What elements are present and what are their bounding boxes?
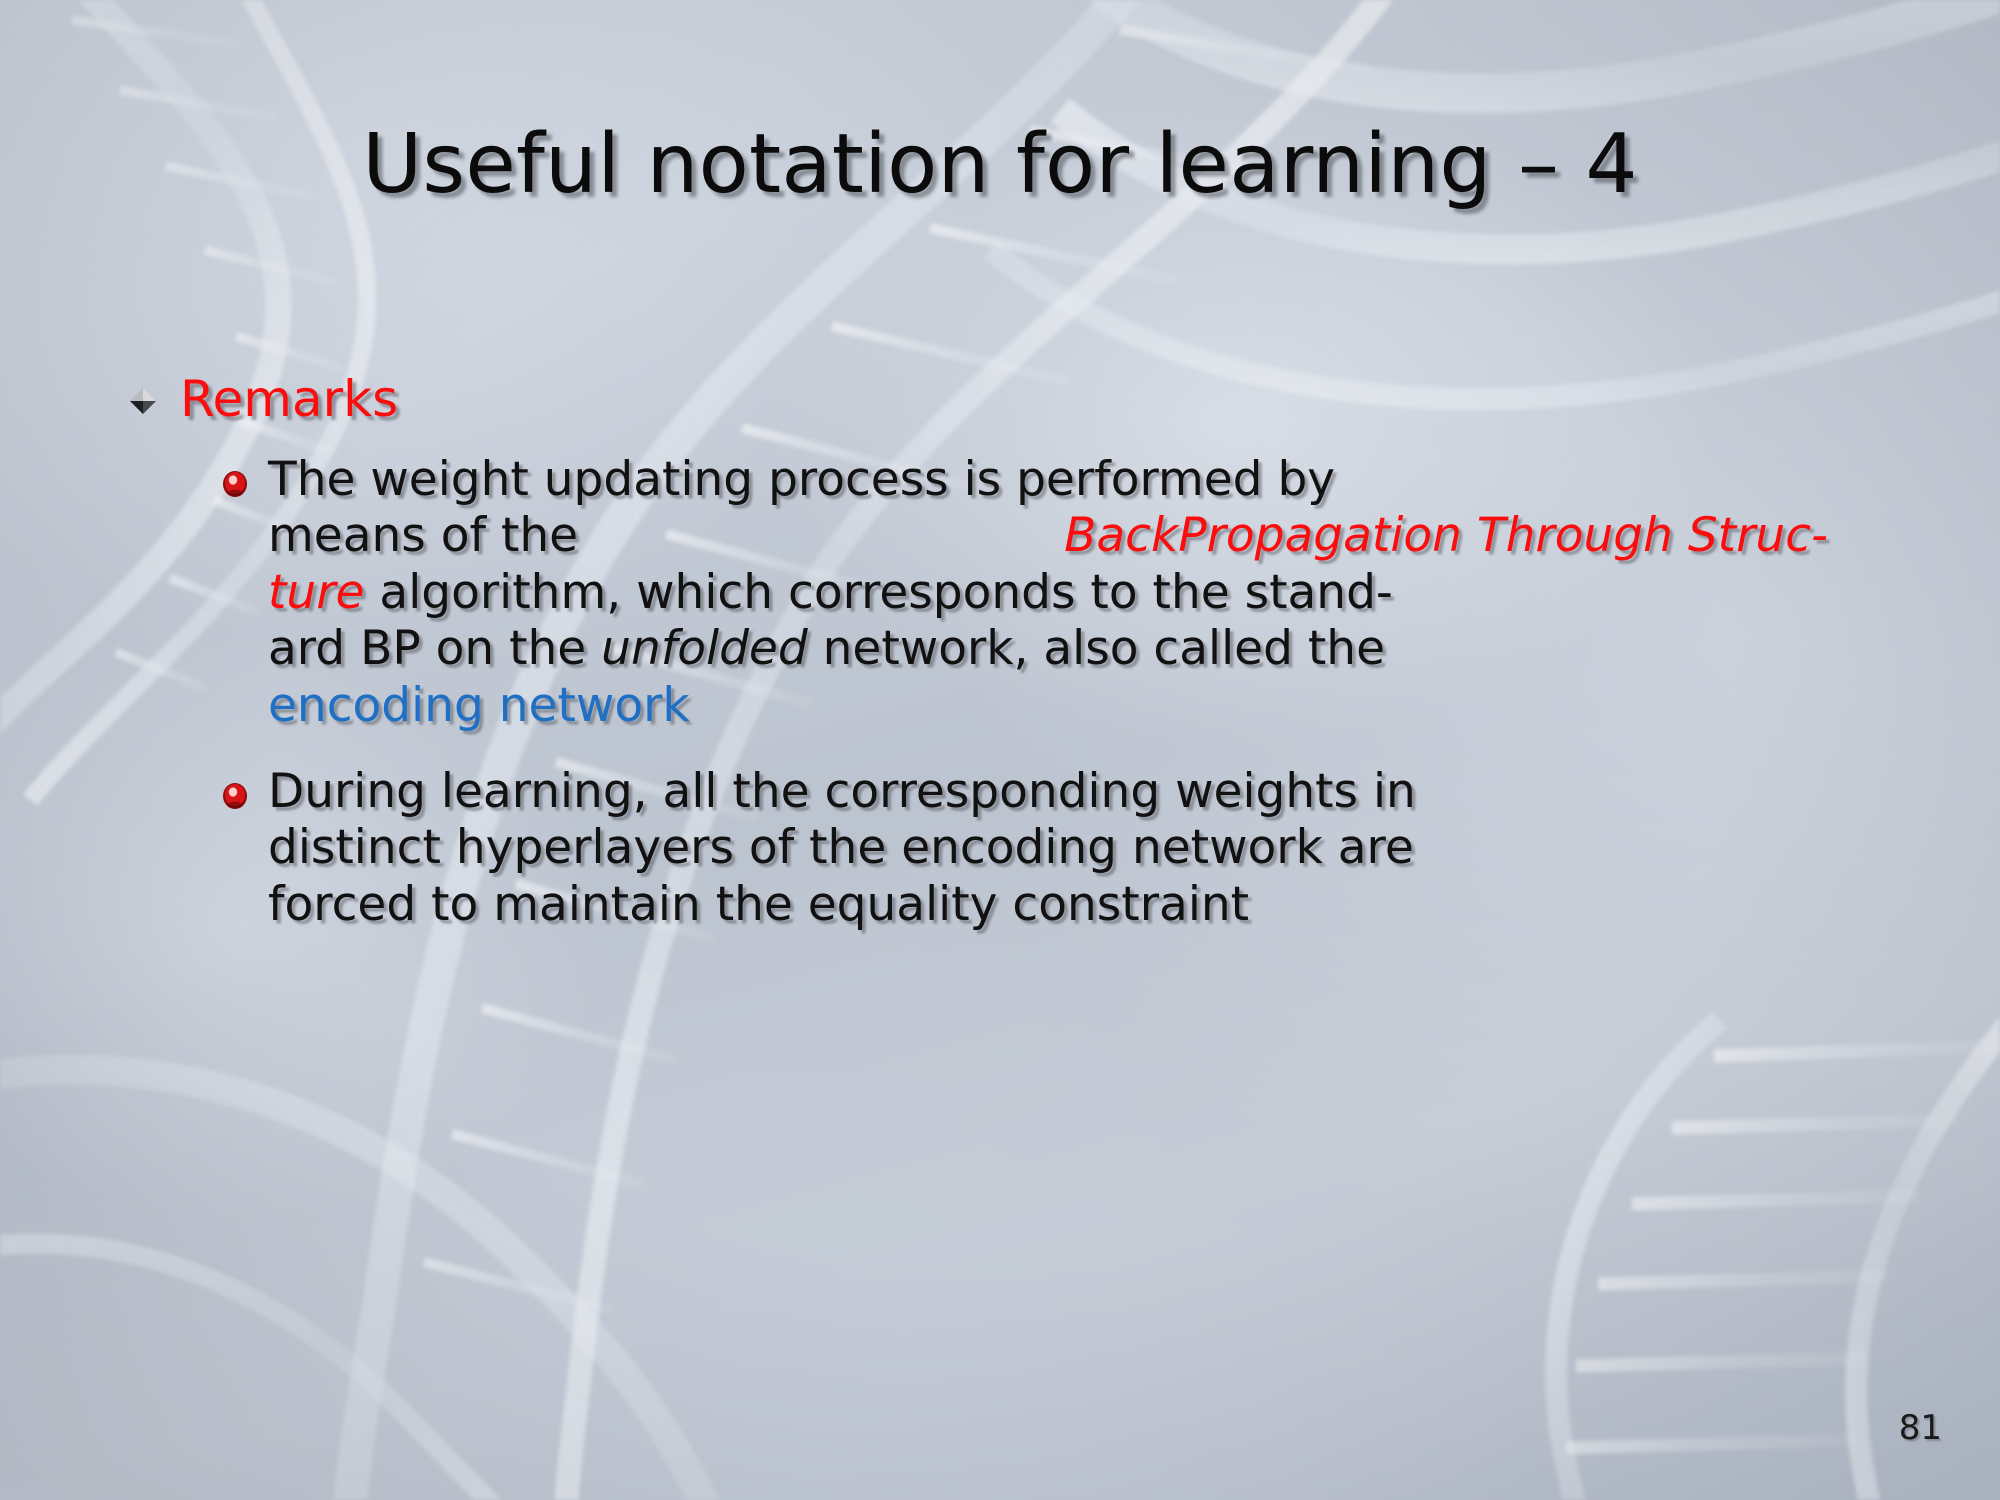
text-line: means of the BackPropagation Through Str… xyxy=(268,508,1828,564)
text-line: ture algorithm, which corresponds to the… xyxy=(268,565,1828,621)
text-run-emphasis-red: ture xyxy=(268,565,364,620)
text-line: forced to maintain the equality constrai… xyxy=(268,877,1828,933)
text-run: network, also called the xyxy=(808,621,1385,676)
text-run: The weight updating process is performed… xyxy=(268,452,1335,508)
outline-item-text: The weight updating process is performed… xyxy=(268,452,1828,734)
text-line: distinct hyperlayers of the encoding net… xyxy=(268,820,1828,876)
outline-heading-row: Remarks xyxy=(128,372,1888,426)
text-line: The weight updating process is performed… xyxy=(268,452,1828,508)
outline-item-text: During learning, all the corresponding w… xyxy=(268,764,1828,933)
outline-item: During learning, all the corresponding w… xyxy=(222,764,1888,933)
slide-content: Useful notation for learning – 4 Remarks xyxy=(0,0,2000,1500)
page-number: 81 xyxy=(1899,1408,1942,1448)
outline-heading-label: Remarks xyxy=(180,372,398,426)
red-sphere-bullet-icon xyxy=(222,470,248,498)
text-line: encoding network xyxy=(268,678,1828,734)
slide-title: Useful notation for learning – 4 xyxy=(0,124,2000,206)
diamond-bullet-icon xyxy=(128,386,158,416)
text-run-emphasis-blue: encoding network xyxy=(268,678,690,733)
outline-item: The weight updating process is performed… xyxy=(222,452,1888,734)
slide-body: Remarks The weight updating process is p… xyxy=(128,372,1888,963)
presentation-slide: Useful notation for learning – 4 Remarks xyxy=(0,0,2000,1500)
text-line: ard BP on the unfolded network, also cal… xyxy=(268,621,1828,677)
text-run-emphasis-italic: unfolded xyxy=(601,621,808,676)
red-sphere-bullet-icon xyxy=(222,782,248,810)
text-run: algorithm, which corresponds to the stan… xyxy=(364,565,1392,620)
text-run: means of the xyxy=(268,508,578,564)
text-line: During learning, all the corresponding w… xyxy=(268,764,1828,820)
text-run-emphasis-red: BackPropagation Through Struc- xyxy=(1064,508,1828,564)
text-run: ard BP on the xyxy=(268,621,601,676)
